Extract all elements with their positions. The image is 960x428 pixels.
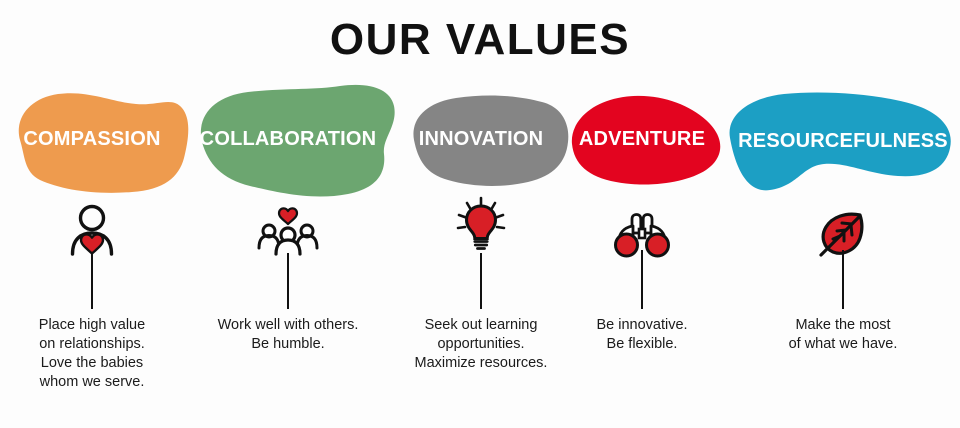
caption-line: on relationships. xyxy=(0,335,197,354)
caption-line: whom we serve. xyxy=(0,373,197,392)
connector-line-compassion xyxy=(91,253,93,309)
caption-line: Be humble. xyxy=(183,335,393,354)
blob-label-innovation: INNOVATION xyxy=(419,128,544,150)
caption-resourcefulness: Make the most of what we have. xyxy=(738,316,948,354)
page-title: OUR VALUES xyxy=(0,14,960,66)
connector-line-adventure xyxy=(641,250,643,309)
blob-label-compassion: COMPASSION xyxy=(23,128,160,150)
person-heart-icon xyxy=(52,200,132,256)
blob-label-resourcefulness: RESOURCEFULNESS xyxy=(738,130,948,152)
connector-line-resourcefulness xyxy=(842,250,844,309)
caption-line: Work well with others. xyxy=(183,316,393,335)
caption-line: Maximize resources. xyxy=(376,354,586,373)
caption-line: Love the babies xyxy=(0,354,197,373)
people-group-heart-icon xyxy=(248,200,328,256)
caption-line: of what we have. xyxy=(738,335,948,354)
values-infographic: OUR VALUES COMPASSION COLLABORATION INNO… xyxy=(0,0,960,428)
caption-line: Make the most xyxy=(738,316,948,335)
caption-line: Place high value xyxy=(0,316,197,335)
blob-label-collaboration: COLLABORATION xyxy=(200,128,377,150)
connector-line-collaboration xyxy=(287,253,289,309)
blob-label-adventure: ADVENTURE xyxy=(579,128,705,150)
connector-line-innovation xyxy=(480,253,482,309)
lightbulb-icon xyxy=(441,196,521,252)
caption-compassion: Place high value on relationships. Love … xyxy=(0,316,197,392)
caption-line: Be innovative. xyxy=(537,316,747,335)
caption-collaboration: Work well with others. Be humble. xyxy=(183,316,393,354)
caption-adventure: Be innovative. Be flexible. xyxy=(537,316,747,354)
caption-line: Be flexible. xyxy=(537,335,747,354)
